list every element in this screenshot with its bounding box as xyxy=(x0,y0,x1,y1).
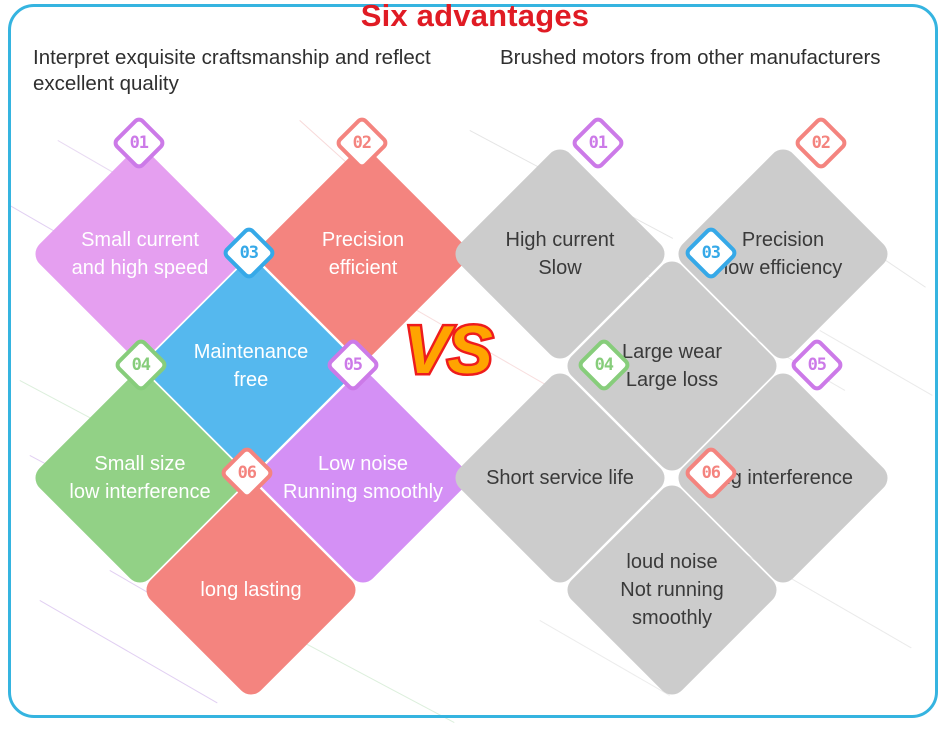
number-badge-text: 02 xyxy=(812,134,830,151)
diamond-label-line: long lasting xyxy=(200,576,301,604)
diamond-label-line: Short service life xyxy=(486,464,634,492)
number-badge-text: 01 xyxy=(130,134,148,151)
number-badge-text: 03 xyxy=(240,244,258,261)
diamond-label-line: and high speed xyxy=(72,254,209,282)
number-badge-text: 02 xyxy=(353,134,371,151)
number-badge-text: 06 xyxy=(238,464,256,481)
page-title: Six advantages xyxy=(0,0,950,34)
diamond-card-06[interactable]: loud noiseNot runningsmoothly xyxy=(562,480,783,701)
diamond-label-line: low efficiency xyxy=(724,254,843,282)
diamond-label-line: smoothly xyxy=(632,604,712,632)
diamond-label-line: Not running xyxy=(620,576,723,604)
number-badge-text: 05 xyxy=(344,356,362,373)
diamond-label-line: free xyxy=(234,366,268,394)
number-badge-text: 01 xyxy=(589,134,607,151)
number-badge-text: 04 xyxy=(595,356,613,373)
number-badge-text: 04 xyxy=(132,356,150,373)
infographic-canvas: Six advantages Interpret exquisite craft… xyxy=(0,0,950,736)
diamond-label-line: Low noise xyxy=(318,450,408,478)
diamond-label: loud noiseNot runningsmoothly xyxy=(560,512,784,668)
versus-label: VS xyxy=(404,316,491,384)
diamond-label-line: efficient xyxy=(329,254,398,282)
diamond-label-line: Small current xyxy=(81,226,199,254)
diamond-label-line: Slow xyxy=(538,254,581,282)
number-badge-text: 03 xyxy=(702,244,720,261)
number-badge-text: 05 xyxy=(808,356,826,373)
diamond-label-line: Running smoothly xyxy=(283,478,443,506)
diamond-label-line: Large loss xyxy=(626,366,718,394)
diamond-label-line: Small size xyxy=(94,450,185,478)
diamond-label-line: Large wear xyxy=(622,338,722,366)
diamond-label-line: Maintenance xyxy=(194,338,309,366)
diamond-label-line: loud noise xyxy=(626,548,717,576)
number-badge-text: 06 xyxy=(702,464,720,481)
subtitle-left: Interpret exquisite craftsmanship and re… xyxy=(33,45,473,97)
diamond-label-line: low interference xyxy=(69,478,210,506)
diamond-label-line: Precision xyxy=(742,226,824,254)
diamond-label: long lasting xyxy=(139,512,363,668)
diamond-card-06[interactable]: long lasting xyxy=(141,480,362,701)
diamond-label-line: Precision xyxy=(322,226,404,254)
subtitle-right: Brushed motors from other manufacturers xyxy=(500,45,930,71)
diamond-label-line: High current xyxy=(506,226,615,254)
